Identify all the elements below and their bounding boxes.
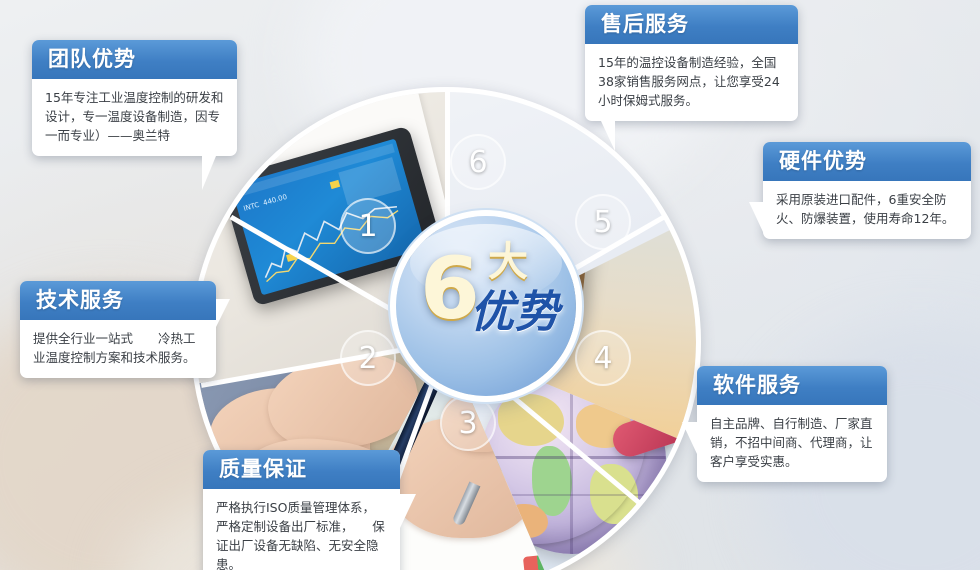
callout-tail — [749, 202, 763, 232]
infographic-canvas: INTC 440.00 1 2 3 4 5 6 6 大 优势 团队优势 15年专… — [0, 0, 980, 570]
segment-number-6[interactable]: 6 — [450, 134, 506, 190]
segment-number-3[interactable]: 3 — [440, 395, 496, 451]
callout-team-advantage[interactable]: 团队优势 15年专注工业温度控制的研发和设计，专一温度设备制造，因专一而专业）—… — [32, 40, 237, 156]
callout-after-sales-service[interactable]: 售后服务 15年的温控设备制造经验，全国38家销售服务网点，让您享受24小时保姆… — [585, 5, 798, 121]
callout-technical-service[interactable]: 技术服务 提供全行业一站式 冷热工业温度控制方案和技术服务。 — [20, 281, 216, 378]
callout-tail — [202, 156, 216, 190]
badge-unit: 大 — [488, 242, 528, 282]
center-badge: 6 大 优势 — [396, 216, 576, 396]
callout-body: 采用原装进口配件，6重安全防火、防爆装置，使用寿命12年。 — [763, 181, 971, 239]
callout-title: 团队优势 — [32, 40, 237, 79]
callout-hardware-advantage[interactable]: 硬件优势 采用原装进口配件，6重安全防火、防爆装置，使用寿命12年。 — [763, 142, 971, 239]
callout-software-service[interactable]: 软件服务 自主品牌、自行制造、厂家直销，不招中间商、代理商，让客户享受实惠。 — [697, 366, 887, 482]
callout-tail — [682, 422, 697, 454]
callout-title: 硬件优势 — [763, 142, 971, 181]
callout-tail — [216, 299, 230, 327]
callout-body: 15年的温控设备制造经验，全国38家销售服务网点，让您享受24小时保姆式服务。 — [585, 44, 798, 121]
callout-body: 自主品牌、自行制造、厂家直销，不招中间商、代理商，让客户享受实惠。 — [697, 405, 887, 482]
callout-title: 售后服务 — [585, 5, 798, 44]
badge-word: 优势 — [470, 290, 560, 336]
callout-title: 质量保证 — [203, 450, 400, 489]
callout-title: 软件服务 — [697, 366, 887, 405]
segment-number-1[interactable]: 1 — [340, 198, 396, 254]
callout-body: 严格执行ISO质量管理体系，严格定制设备出厂标准， 保证出厂设备无缺陷、无安全隐… — [203, 489, 400, 570]
callout-body: 提供全行业一站式 冷热工业温度控制方案和技术服务。 — [20, 320, 216, 378]
callout-body: 15年专注工业温度控制的研发和设计，专一温度设备制造，因专一而专业）——奥兰特 — [32, 79, 237, 156]
callout-quality-assurance[interactable]: 质量保证 严格执行ISO质量管理体系，严格定制设备出厂标准， 保证出厂设备无缺陷… — [203, 450, 400, 570]
callout-tail — [400, 494, 416, 528]
segment-number-4[interactable]: 4 — [575, 330, 631, 386]
segment-number-2[interactable]: 2 — [340, 330, 396, 386]
callout-tail — [601, 121, 615, 151]
segment-number-5[interactable]: 5 — [575, 194, 631, 250]
callout-title: 技术服务 — [20, 281, 216, 320]
